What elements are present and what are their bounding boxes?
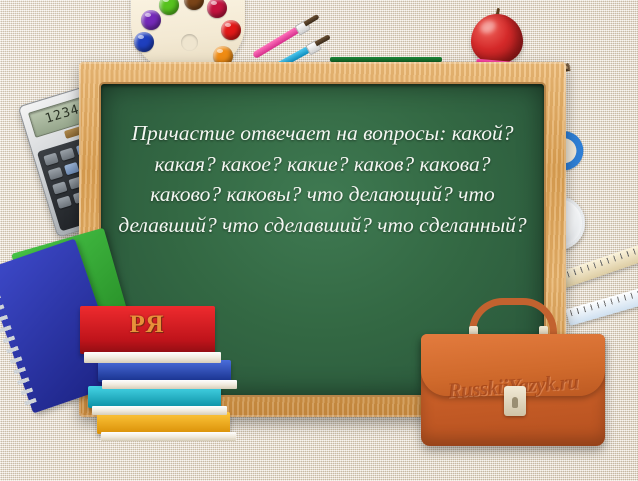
briefcase-lock (504, 386, 526, 416)
calculator-key (57, 196, 72, 209)
calculator-key (43, 153, 58, 166)
book-pages (92, 406, 227, 415)
briefcase: RusskiiYazyk.ru (421, 318, 605, 448)
apple-body (471, 14, 523, 64)
book-pages (102, 380, 237, 389)
blackboard-text: Причастие отвечает на вопросы: какой? ка… (117, 118, 528, 240)
paint-blob-blue (134, 32, 154, 52)
briefcase-body: RusskiiYazyk.ru (421, 334, 605, 446)
calculator-key (60, 148, 75, 161)
notebook-spiral (0, 273, 38, 409)
paint-blob-brown (184, 0, 204, 10)
ruler-ticks (570, 286, 638, 316)
book-blue (98, 360, 231, 382)
paintbrush-bristles (314, 34, 330, 46)
calculator-key (64, 162, 79, 175)
book-yellow (97, 412, 230, 434)
paintbrush-bristles (303, 14, 319, 27)
red-apple (471, 14, 523, 64)
calculator-key (52, 181, 67, 194)
book-pages (101, 432, 236, 441)
paint-blob-green (159, 0, 179, 15)
calculator-key (48, 167, 63, 180)
book-teal (88, 386, 221, 408)
book-pages (84, 352, 221, 363)
paint-blob-purple (141, 10, 161, 30)
paint-blob-red (221, 20, 241, 40)
book-title-label: РЯ (80, 311, 215, 339)
palette-thumb-hole (181, 34, 198, 51)
poster-scene: 12345 Причастие отвечает на вопросы: как… (0, 0, 638, 481)
book-red: РЯ (80, 306, 215, 354)
paint-blob-crimson (207, 0, 227, 18)
